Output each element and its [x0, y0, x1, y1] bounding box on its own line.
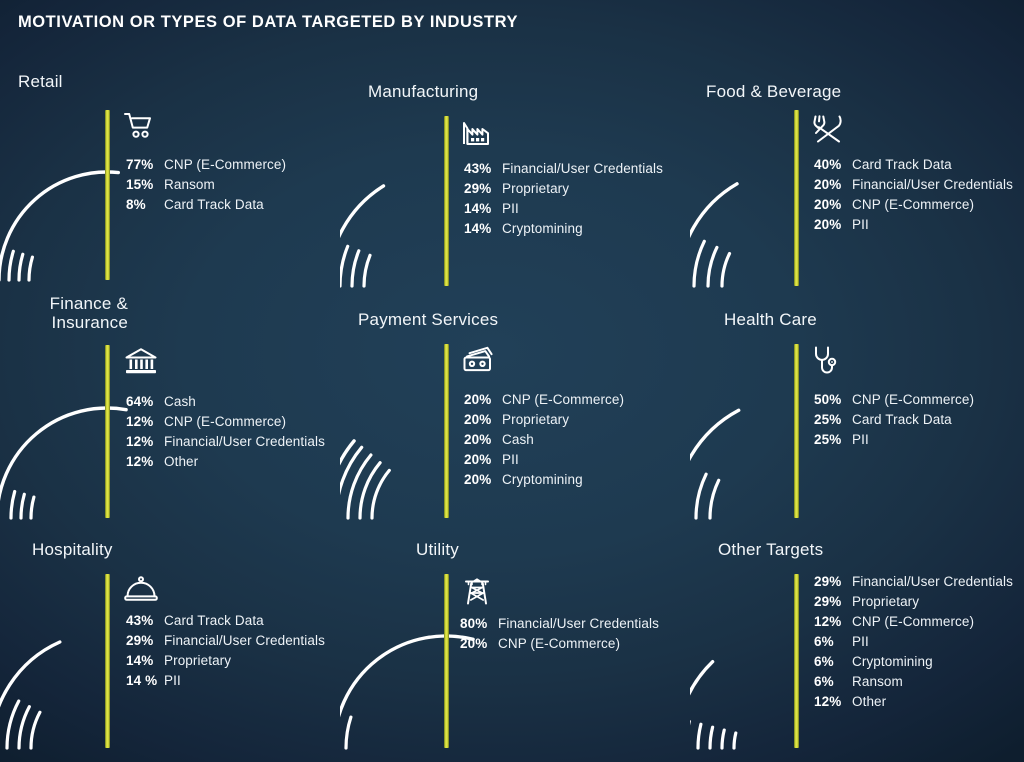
panel-icon-banknotes-icon — [462, 346, 496, 374]
panel-icon-stethoscope-icon — [812, 346, 840, 376]
panel-manufacturing: Manufacturing 43% Financial/User Credent… — [340, 72, 670, 304]
stat-label: Proprietary — [502, 412, 569, 427]
accent-bar — [105, 110, 110, 280]
power-tower-icon — [462, 576, 492, 606]
stat-row: 20% PII — [814, 217, 1013, 237]
panel-title: Manufacturing — [368, 82, 478, 101]
stat-rows: 64% Cash 12% CNP (E-Commerce) 12% Financ… — [126, 394, 325, 474]
stat-percent: 20% — [814, 197, 852, 212]
stat-percent: 40% — [814, 157, 852, 172]
stat-percent: 43% — [464, 161, 502, 176]
stat-row: 50% CNP (E-Commerce) — [814, 392, 974, 412]
stethoscope-icon — [812, 346, 840, 376]
stat-percent: 77% — [126, 157, 164, 172]
stat-label: Proprietary — [852, 594, 919, 609]
panel-payment-services: Payment Services 20% CNP (E-Commerce) 20… — [340, 300, 670, 532]
stat-percent: 8% — [126, 197, 164, 212]
stat-row: 77% CNP (E-Commerce) — [126, 157, 286, 177]
factory-icon — [462, 118, 492, 146]
stat-row: 64% Cash — [126, 394, 325, 414]
stat-percent: 6% — [814, 674, 852, 689]
stat-percent: 29% — [814, 594, 852, 609]
stat-percent: 20% — [464, 432, 502, 447]
stat-label: CNP (E-Commerce) — [502, 392, 624, 407]
stat-row: 29% Financial/User Credentials — [126, 633, 325, 653]
stat-percent: 20% — [464, 392, 502, 407]
panel-title: Payment Services — [358, 310, 498, 329]
stat-row: 29% Financial/User Credentials — [814, 574, 1013, 594]
stat-label: Other — [852, 694, 886, 709]
stat-percent: 15% — [126, 177, 164, 192]
stat-row: 43% Card Track Data — [126, 613, 325, 633]
stat-percent: 20% — [464, 412, 502, 427]
stat-row: 6% Ransom — [814, 674, 1013, 694]
stat-row: 6% Cryptomining — [814, 654, 1013, 674]
stat-label: Financial/User Credentials — [498, 616, 659, 631]
accent-bar — [105, 345, 110, 518]
bank-icon — [124, 347, 158, 375]
stat-rows: 43% Financial/User Credentials 29% Propr… — [464, 161, 663, 241]
stat-percent: 20% — [814, 177, 852, 192]
stat-label: CNP (E-Commerce) — [852, 392, 974, 407]
page-title: MOTIVATION OR TYPES OF DATA TARGETED BY … — [18, 13, 518, 32]
stat-label: CNP (E-Commerce) — [164, 414, 286, 429]
panel-retail: Retail 77% CNP (E-Commerce) 15% Ransom 8… — [0, 72, 330, 304]
panel-other-targets: Other Targets 29% Financial/User Credent… — [690, 530, 1020, 762]
stat-row: 15% Ransom — [126, 177, 286, 197]
accent-bar — [794, 574, 799, 748]
fork-and-knife-icon — [812, 114, 844, 144]
stat-label: Ransom — [164, 177, 215, 192]
panel-title: Hospitality — [32, 540, 113, 559]
stat-label: CNP (E-Commerce) — [498, 636, 620, 651]
stat-label: CNP (E-Commerce) — [164, 157, 286, 172]
stat-percent: 25% — [814, 432, 852, 447]
accent-bar — [444, 344, 449, 518]
stat-percent: 20% — [814, 217, 852, 232]
stat-percent: 50% — [814, 392, 852, 407]
stat-label: Cash — [164, 394, 196, 409]
stat-row: 12% Financial/User Credentials — [126, 434, 325, 454]
stat-row: 14% PII — [464, 201, 663, 221]
stat-label: PII — [852, 217, 869, 232]
stat-label: Proprietary — [164, 653, 231, 668]
stat-rows: 77% CNP (E-Commerce) 15% Ransom 8% Card … — [126, 157, 286, 217]
accent-bar — [794, 110, 799, 286]
stat-row: 40% Card Track Data — [814, 157, 1013, 177]
stat-percent: 14% — [126, 653, 164, 668]
stat-label: Financial/User Credentials — [164, 434, 325, 449]
stat-label: Financial/User Credentials — [852, 574, 1013, 589]
stat-percent: 80% — [460, 616, 498, 631]
stat-label: Cryptomining — [502, 221, 583, 236]
accent-bar — [105, 574, 110, 748]
stat-label: Financial/User Credentials — [164, 633, 325, 648]
stat-row: 20% Cryptomining — [464, 472, 624, 492]
stat-label: PII — [164, 673, 181, 688]
panel-title: Retail — [18, 72, 63, 91]
panel-utility: Utility 80% Financial/User Credentials 2… — [340, 530, 670, 762]
stat-row: 20% CNP (E-Commerce) — [460, 636, 659, 656]
accent-bar — [444, 116, 449, 286]
stat-rows: 20% CNP (E-Commerce) 20% Proprietary 20%… — [464, 392, 624, 492]
panel-icon-power-tower-icon — [462, 576, 492, 606]
cloche-icon — [124, 576, 158, 604]
stat-label: PII — [852, 432, 869, 447]
stat-row: 12% Other — [126, 454, 325, 474]
banknotes-icon — [462, 346, 496, 374]
stat-percent: 20% — [464, 452, 502, 467]
stat-percent: 29% — [126, 633, 164, 648]
stat-row: 43% Financial/User Credentials — [464, 161, 663, 181]
stat-label: Card Track Data — [164, 197, 264, 212]
panel-finance-and-insurance: Finance & Insurance 64% Cash 12% CNP (E-… — [0, 290, 330, 522]
accent-bar — [794, 344, 799, 518]
stat-label: PII — [502, 201, 519, 216]
stat-percent: 12% — [126, 454, 164, 469]
stat-row: 8% Card Track Data — [126, 197, 286, 217]
panel-title: Utility — [416, 540, 459, 559]
panel-health-care: Health Care 50% CNP (E-Commerce) 25% Car… — [690, 300, 1020, 532]
stat-label: Proprietary — [502, 181, 569, 196]
panel-title: Other Targets — [718, 540, 823, 559]
panel-icon-cloche-icon — [124, 576, 158, 604]
stat-rows: 43% Card Track Data 29% Financial/User C… — [126, 613, 325, 693]
stat-percent: 12% — [814, 614, 852, 629]
stat-row: 14% Proprietary — [126, 653, 325, 673]
stat-row: 12% Other — [814, 694, 1013, 714]
stat-label: PII — [502, 452, 519, 467]
stat-label: Card Track Data — [852, 412, 952, 427]
stat-row: 20% Financial/User Credentials — [814, 177, 1013, 197]
stat-percent: 6% — [814, 654, 852, 669]
stat-label: Cash — [502, 432, 534, 447]
stat-percent: 14 % — [126, 673, 164, 688]
stat-row: 6% PII — [814, 634, 1013, 654]
panel-title: Food & Beverage — [706, 82, 841, 101]
accent-bar — [444, 574, 449, 748]
stat-row: 20% Cash — [464, 432, 624, 452]
stat-row: 20% CNP (E-Commerce) — [464, 392, 624, 412]
stat-percent: 64% — [126, 394, 164, 409]
stat-label: CNP (E-Commerce) — [852, 614, 974, 629]
stat-row: 20% Proprietary — [464, 412, 624, 432]
stat-row: 25% PII — [814, 432, 974, 452]
shopping-cart-icon — [124, 112, 154, 140]
panel-title: Finance & Insurance — [50, 294, 128, 332]
stat-percent: 29% — [814, 574, 852, 589]
stat-row: 14 % PII — [126, 673, 325, 693]
panel-hospitality: Hospitality 43% Card Track Data 29% Fina… — [0, 530, 330, 762]
stat-percent: 14% — [464, 201, 502, 216]
stat-percent: 29% — [464, 181, 502, 196]
stat-percent: 12% — [126, 414, 164, 429]
stat-label: Ransom — [852, 674, 903, 689]
panel-icon-bank-icon — [124, 347, 158, 375]
stat-row: 29% Proprietary — [464, 181, 663, 201]
stat-row: 20% CNP (E-Commerce) — [814, 197, 1013, 217]
stat-row: 12% CNP (E-Commerce) — [814, 614, 1013, 634]
stat-label: CNP (E-Commerce) — [852, 197, 974, 212]
infographic-canvas: MOTIVATION OR TYPES OF DATA TARGETED BY … — [0, 0, 1024, 762]
stat-percent: 12% — [126, 434, 164, 449]
stat-label: PII — [852, 634, 869, 649]
panel-icon-factory-icon — [462, 118, 492, 146]
stat-row: 14% Cryptomining — [464, 221, 663, 241]
stat-percent: 14% — [464, 221, 502, 236]
stat-row: 12% CNP (E-Commerce) — [126, 414, 325, 434]
stat-percent: 43% — [126, 613, 164, 628]
stat-label: Card Track Data — [852, 157, 952, 172]
stat-rows: 80% Financial/User Credentials 20% CNP (… — [460, 616, 659, 656]
stat-percent: 20% — [460, 636, 498, 651]
stat-row: 29% Proprietary — [814, 594, 1013, 614]
stat-rows: 29% Financial/User Credentials 29% Propr… — [814, 574, 1013, 714]
stat-row: 20% PII — [464, 452, 624, 472]
stat-row: 80% Financial/User Credentials — [460, 616, 659, 636]
stat-rows: 40% Card Track Data 20% Financial/User C… — [814, 157, 1013, 237]
stat-percent: 25% — [814, 412, 852, 427]
stat-percent: 6% — [814, 634, 852, 649]
stat-label: Other — [164, 454, 198, 469]
stat-label: Financial/User Credentials — [502, 161, 663, 176]
panel-icon-fork-and-knife-icon — [812, 114, 844, 144]
panel-title: Health Care — [724, 310, 817, 329]
stat-rows: 50% CNP (E-Commerce) 25% Card Track Data… — [814, 392, 974, 452]
stat-percent: 20% — [464, 472, 502, 487]
panel-icon-shopping-cart-icon — [124, 112, 154, 140]
stat-label: Cryptomining — [852, 654, 933, 669]
stat-label: Card Track Data — [164, 613, 264, 628]
stat-percent: 12% — [814, 694, 852, 709]
stat-label: Financial/User Credentials — [852, 177, 1013, 192]
stat-row: 25% Card Track Data — [814, 412, 974, 432]
panel-food-and-beverage: Food & Beverage 40% Card Track Data 20% … — [690, 72, 1020, 304]
stat-label: Cryptomining — [502, 472, 583, 487]
